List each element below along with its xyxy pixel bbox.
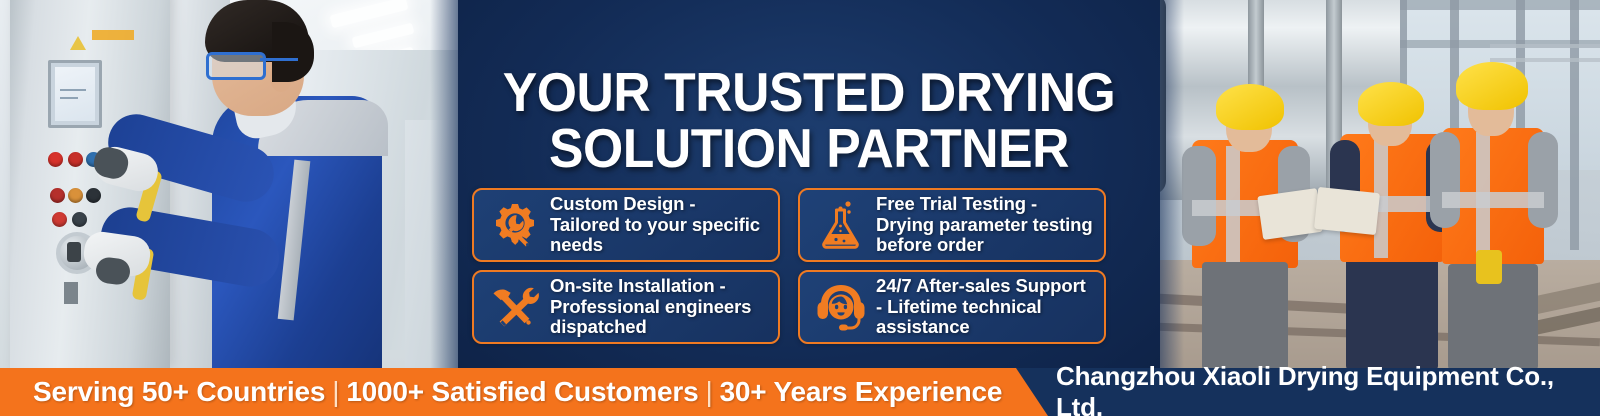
headline-line-1: YOUR TRUSTED DRYING bbox=[503, 61, 1115, 123]
hammer-wrench-icon bbox=[484, 278, 546, 336]
hmi-touchscreen bbox=[48, 60, 102, 128]
feature-label: Free Trial Testing - Drying parameter te… bbox=[872, 194, 1096, 256]
panel-button bbox=[50, 188, 65, 203]
catwalk-railing bbox=[1490, 44, 1600, 48]
right-photo-engineers-inspection bbox=[1130, 0, 1600, 370]
tagline-separator: | bbox=[325, 376, 346, 408]
feature-label: On-site Installation - Professional engi… bbox=[546, 276, 770, 338]
hard-hat bbox=[1216, 84, 1284, 130]
tool-pouch bbox=[1476, 250, 1502, 284]
sleeve bbox=[1182, 146, 1216, 246]
company-name: Changzhou Xiaoli Drying Equipment Co., L… bbox=[1056, 368, 1600, 416]
page-title: YOUR TRUSTED DRYING SOLUTION PARTNER bbox=[479, 64, 1139, 176]
panel-button bbox=[68, 152, 83, 167]
tagline-customers: 1000+ Satisfied Customers bbox=[346, 376, 698, 408]
tagline-countries: Serving 50+ Countries bbox=[33, 376, 325, 408]
hard-hat bbox=[1358, 82, 1424, 126]
safety-glasses bbox=[206, 52, 298, 74]
panel-button bbox=[72, 212, 87, 227]
warning-triangle-icon bbox=[70, 36, 86, 50]
sleeve bbox=[1528, 132, 1558, 228]
panel-button bbox=[86, 188, 101, 203]
feature-card-after-sales-support[interactable]: 24/7 After-sales Support - Lifetime tech… bbox=[798, 270, 1106, 344]
gear-wrench-icon bbox=[484, 196, 546, 254]
feature-label: Custom Design - Tailored to your specifi… bbox=[546, 194, 770, 256]
flask-icon bbox=[810, 196, 872, 254]
cabinet-label bbox=[92, 30, 134, 40]
vest-stripe bbox=[1476, 132, 1490, 258]
feature-card-free-trial-testing[interactable]: Free Trial Testing - Drying parameter te… bbox=[798, 188, 1106, 262]
feature-card-custom-design[interactable]: Custom Design - Tailored to your specifi… bbox=[472, 188, 780, 262]
feature-grid: Custom Design - Tailored to your specifi… bbox=[472, 188, 1106, 344]
trousers bbox=[1346, 258, 1438, 370]
headset-support-icon bbox=[810, 278, 872, 336]
headline-line-2: SOLUTION PARTNER bbox=[479, 120, 1139, 176]
trousers bbox=[1202, 262, 1288, 370]
panel-button bbox=[52, 212, 67, 227]
promotional-banner: YOUR TRUSTED DRYING SOLUTION PARTNER Cus… bbox=[0, 0, 1600, 416]
cabinet-slot bbox=[64, 282, 78, 304]
panel-button bbox=[68, 188, 83, 203]
tagline-experience: 30+ Years Experience bbox=[720, 376, 1003, 408]
vest-stripe bbox=[1442, 192, 1544, 208]
clipboard bbox=[1314, 187, 1380, 235]
clipboard bbox=[1257, 188, 1323, 240]
catwalk-railing bbox=[1490, 58, 1600, 62]
tagline: Serving 50+ Countries | 1000+ Satisfied … bbox=[33, 368, 1002, 416]
feature-label: 24/7 After-sales Support - Lifetime tech… bbox=[872, 276, 1096, 338]
vest-stripe bbox=[1226, 146, 1240, 264]
feature-card-onsite-installation[interactable]: On-site Installation - Professional engi… bbox=[472, 270, 780, 344]
steel-column bbox=[1570, 0, 1579, 250]
emergency-stop-button bbox=[48, 152, 63, 167]
sleeve bbox=[1430, 132, 1460, 228]
tagline-separator: | bbox=[698, 376, 719, 408]
hard-hat bbox=[1456, 62, 1528, 110]
left-photo-technician-control-panel bbox=[0, 0, 470, 370]
